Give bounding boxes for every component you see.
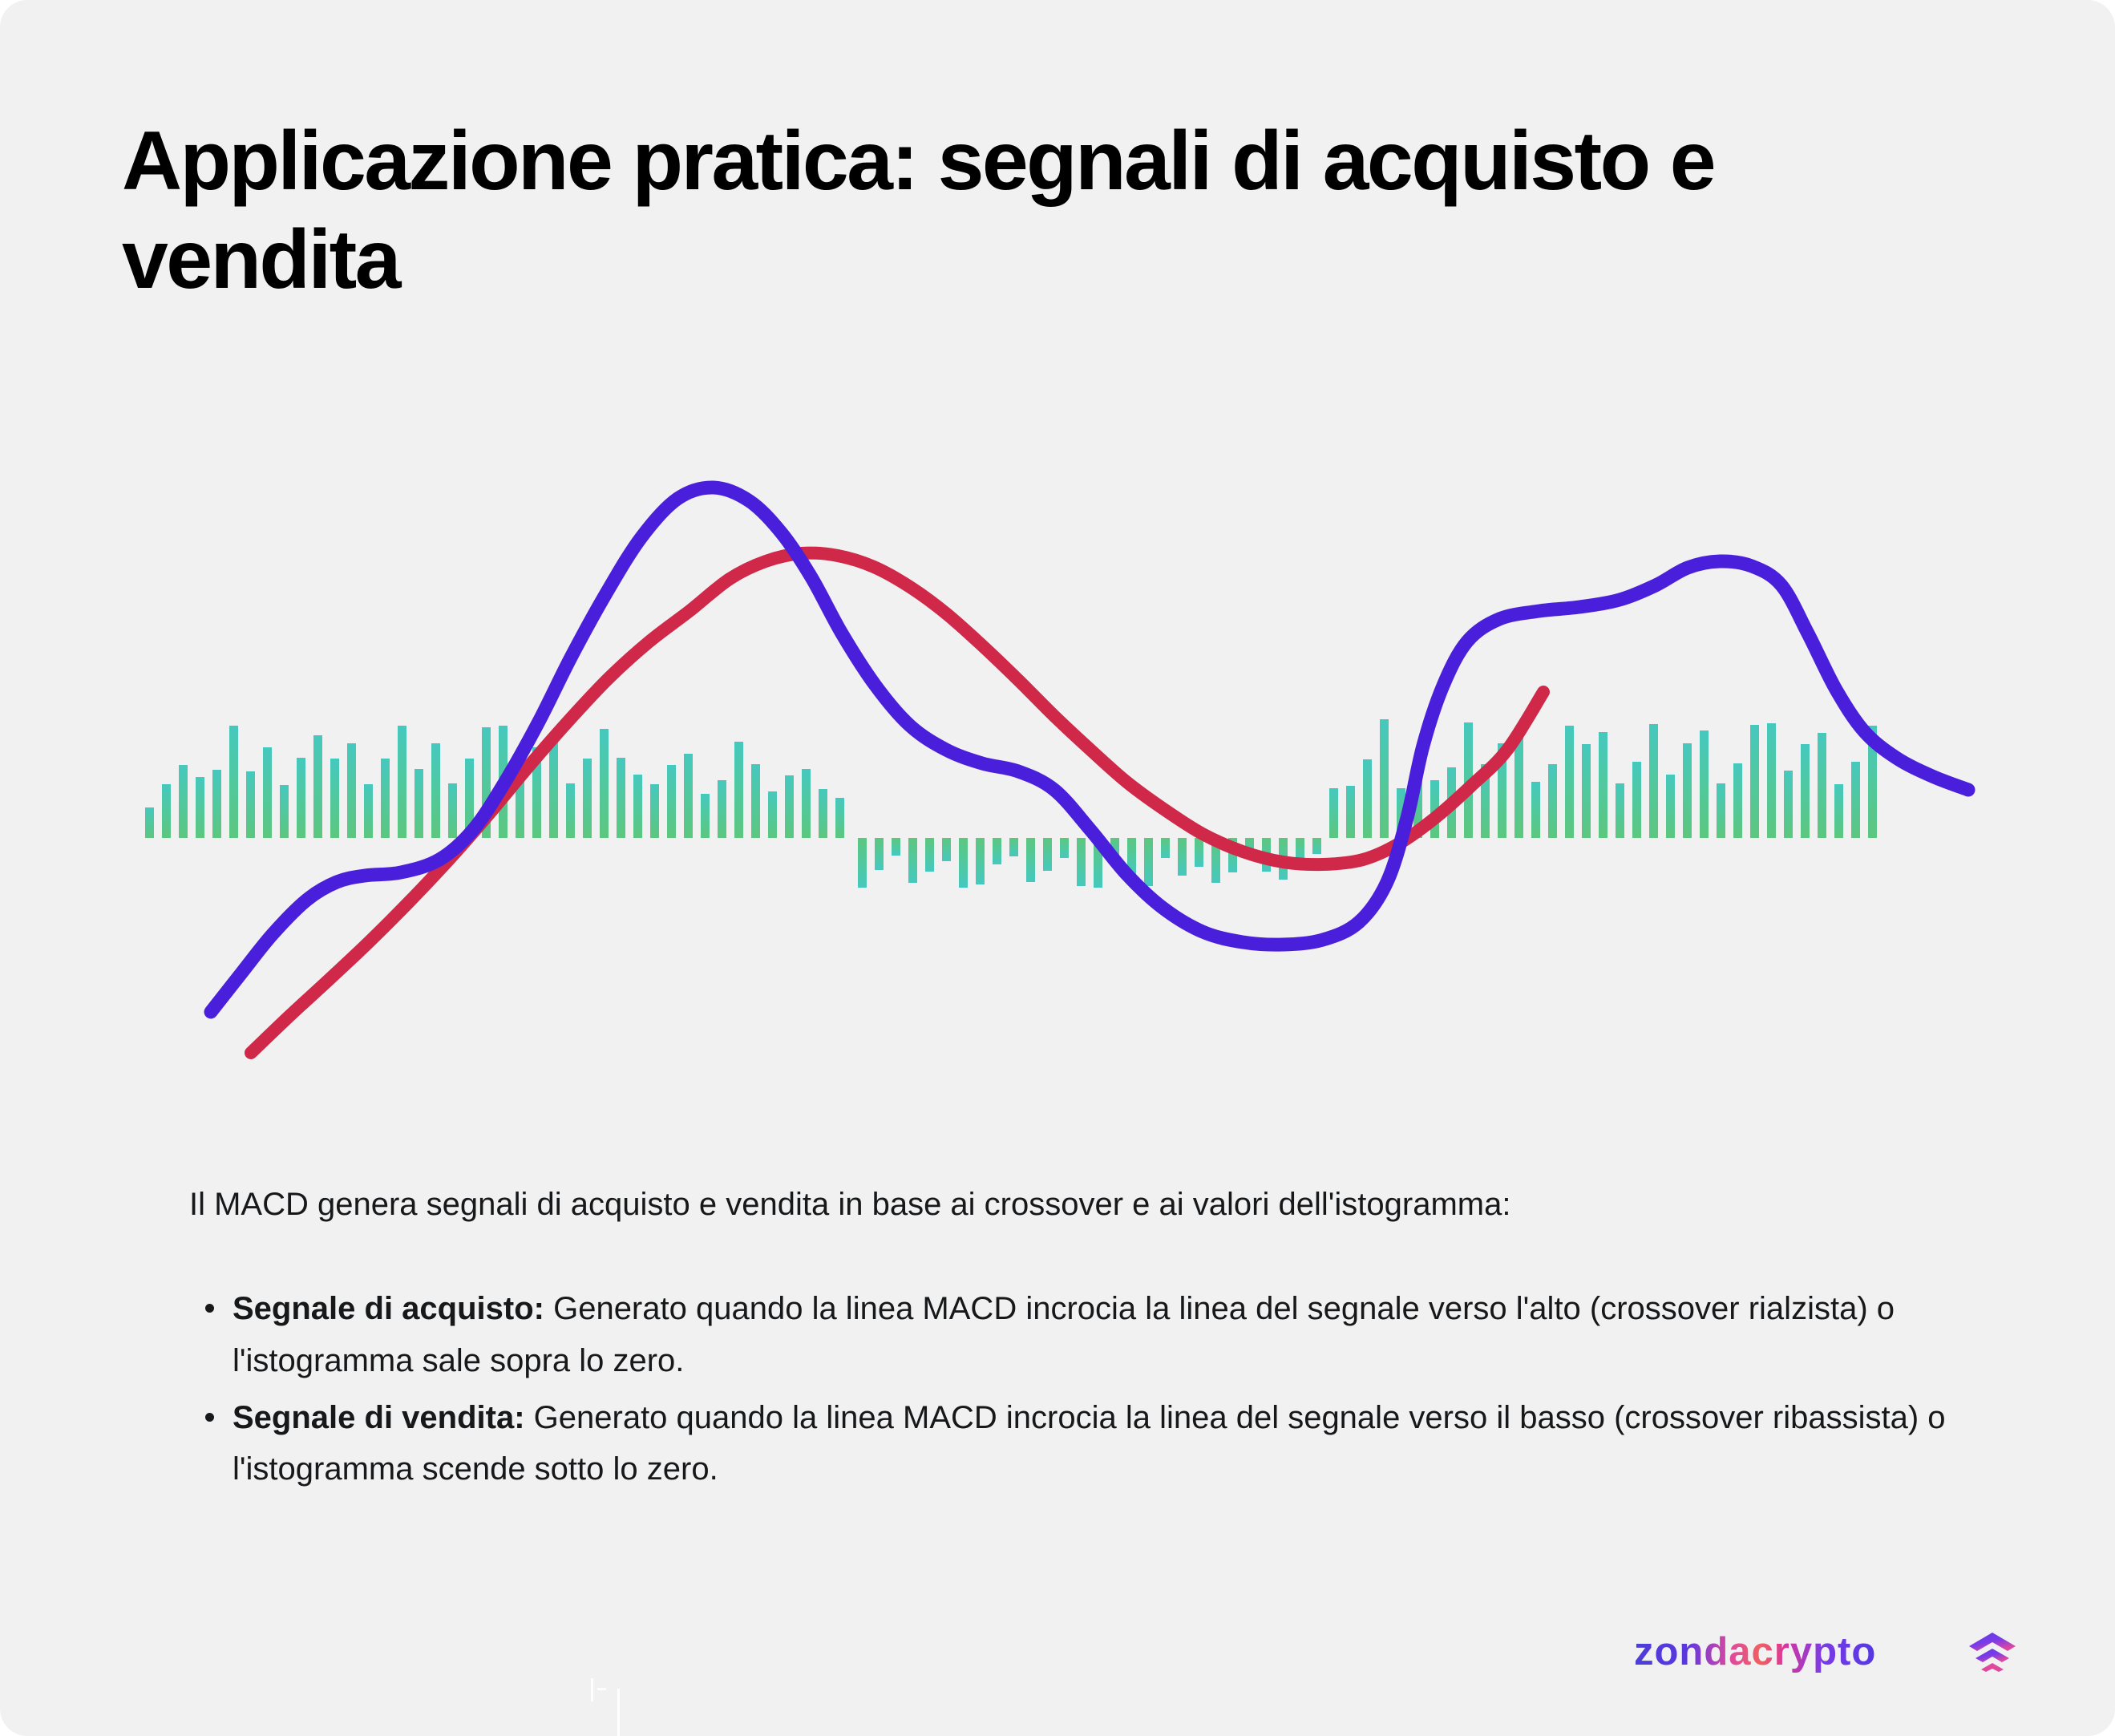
histogram-bar [768, 791, 777, 838]
histogram-bar [908, 838, 917, 883]
histogram-bar [1599, 732, 1607, 838]
histogram-bar [1026, 838, 1035, 882]
macd-chart-svg [0, 417, 2115, 1123]
render-artifact [591, 1678, 593, 1702]
histogram-bar [263, 747, 272, 838]
histogram-bar [1380, 719, 1389, 838]
histogram-bar [1548, 764, 1557, 838]
histogram-bar [162, 784, 171, 838]
histogram-bar [650, 784, 659, 838]
histogram-bar [330, 759, 339, 838]
histogram-bar [1346, 786, 1355, 838]
zondacrypto-wordmark: zondacrypto [1634, 1628, 1955, 1677]
list-item-sell-signal: Segnale di vendita: Generato quando la l… [189, 1392, 2017, 1496]
histogram-bar [785, 775, 794, 838]
histogram-bar [398, 726, 406, 838]
histogram-bar [1178, 838, 1187, 876]
histogram-bar [381, 759, 390, 838]
buy-signal-label: Segnale di acquisto: [233, 1291, 544, 1326]
histogram-bar [1851, 762, 1860, 838]
histogram-bar [1666, 775, 1675, 838]
histogram-bar [1767, 723, 1776, 838]
histogram-bar [212, 770, 221, 838]
histogram-bar [1363, 759, 1372, 838]
histogram-bar [1312, 838, 1321, 854]
histogram-bar [1144, 838, 1153, 886]
histogram-bar [313, 735, 322, 838]
histogram-bar [892, 838, 900, 856]
signal-list: Segnale di acquisto: Generato quando la … [189, 1283, 2017, 1500]
histogram-bar [976, 838, 985, 884]
sell-signal-label: Segnale di vendita: [233, 1400, 525, 1435]
histogram-bar [549, 739, 558, 838]
histogram-bar [1060, 838, 1069, 858]
histogram-bar [297, 758, 305, 838]
histogram-bar [1784, 771, 1793, 838]
histogram-bar [633, 775, 642, 838]
histogram-bar [415, 769, 423, 838]
histogram-bar [246, 771, 255, 838]
content-card: Applicazione pratica: segnali di acquist… [0, 0, 2115, 1736]
histogram-bar [1043, 838, 1052, 871]
histogram-bar [1733, 763, 1742, 838]
histogram-bar [1818, 733, 1826, 838]
histogram-bar [1329, 788, 1338, 838]
histogram-bar [617, 758, 625, 838]
render-artifact [597, 1688, 606, 1690]
histogram-bar [1700, 730, 1709, 838]
histogram-bar [583, 759, 592, 838]
histogram-bar [802, 769, 811, 838]
histogram-bar [1717, 783, 1725, 838]
histogram-bar [1616, 783, 1624, 838]
histogram-bar [280, 785, 289, 838]
histogram-bar [734, 742, 743, 838]
histogram-bar [179, 765, 188, 838]
histogram-bar [751, 764, 760, 838]
histogram-bar [566, 783, 575, 838]
histogram-bar [718, 780, 726, 838]
histogram-bar [667, 765, 676, 838]
histogram-bar [1750, 725, 1759, 838]
histogram-bar [942, 838, 951, 861]
histogram-bar [600, 729, 609, 838]
histogram-bar [925, 838, 934, 872]
histogram-bar [1531, 782, 1540, 838]
histogram-bar [875, 838, 884, 870]
histogram-bar [1161, 838, 1170, 858]
histogram-bar [684, 754, 693, 838]
page-title: Applicazione pratica: segnali di acquist… [122, 112, 1998, 309]
list-item-buy-signal: Segnale di acquisto: Generato quando la … [189, 1283, 2017, 1387]
histogram-bar [1649, 724, 1658, 838]
histogram-bar [196, 777, 204, 838]
histogram-bar [448, 783, 457, 838]
stacked-chevron-icon [1966, 1628, 2019, 1677]
render-artifact [617, 1689, 620, 1736]
histogram-bars [145, 719, 1877, 888]
histogram-bar [1565, 726, 1574, 838]
histogram-bar [819, 789, 827, 838]
histogram-bar [1077, 838, 1086, 886]
histogram-bar [993, 838, 1001, 864]
histogram-bar [1834, 784, 1843, 838]
histogram-bar [858, 838, 867, 888]
histogram-bar [701, 794, 710, 838]
histogram-bar [1683, 743, 1692, 838]
zondacrypto-logo[interactable]: zondacrypto [1634, 1627, 2019, 1678]
bullet-dot-icon [205, 1413, 214, 1422]
histogram-bar [1582, 744, 1591, 838]
histogram-bar [431, 743, 440, 838]
histogram-bar [364, 784, 373, 838]
macd-chart [0, 417, 2115, 1123]
histogram-bar [347, 743, 356, 838]
histogram-bar [1801, 744, 1810, 838]
histogram-bar [229, 726, 238, 838]
histogram-bar [1195, 838, 1203, 867]
bullet-dot-icon [205, 1304, 214, 1313]
histogram-bar [835, 798, 844, 838]
intro-paragraph: Il MACD genera segnali di acquisto e ven… [189, 1180, 2001, 1228]
svg-text:zondacrypto: zondacrypto [1634, 1630, 1876, 1673]
histogram-bar [1632, 762, 1641, 838]
histogram-bar [959, 838, 968, 888]
histogram-bar [145, 807, 154, 838]
histogram-bar [1009, 838, 1018, 856]
